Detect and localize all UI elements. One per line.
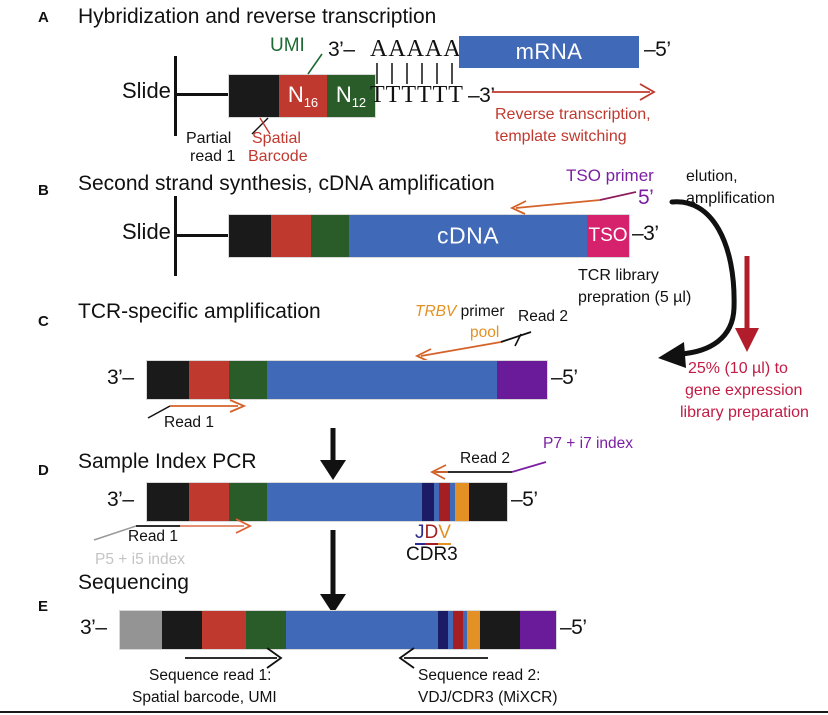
segment-j-e (438, 611, 448, 649)
figure-container: A Hybridization and reverse transcriptio… (0, 0, 828, 715)
panel-title-a: Hybridization and reverse transcription (78, 5, 436, 29)
v-gene-label: V (438, 522, 451, 545)
panel-title-d: Sample Index PCR (78, 450, 257, 474)
segment-spatial-barcode-b (271, 215, 311, 257)
n16-label: N16 (279, 82, 327, 110)
read2-label-c: Read 2 (518, 308, 568, 326)
segment-spatial-barcode-e (202, 611, 246, 649)
segment-umi-a: N12 (327, 75, 375, 117)
segment-j-d (422, 483, 434, 521)
p5-i5-index-label: P5 + i5 index (95, 551, 185, 569)
partial-read1-label-line1: Partial (186, 130, 231, 148)
trbv-primer-arrow-c (405, 330, 555, 362)
partial-read1-label-line2: read 1 (190, 148, 235, 166)
spatial-barcode-label-line1: Spatial (252, 130, 301, 148)
panel-title-c: TCR-specific amplification (78, 300, 321, 324)
segment-p5-i5-e (120, 611, 162, 649)
d-gene-label: D (425, 522, 439, 545)
read1-label-d: Read 1 (128, 528, 178, 546)
cdr3-label: CDR3 (406, 544, 458, 566)
tso-primer-label: TSO primer (566, 166, 654, 186)
sequence-read1-label-line2: Spatial barcode, UMI (132, 689, 277, 707)
segment-umi-b (311, 215, 349, 257)
cdna-label: cDNA (349, 223, 587, 250)
panel-title-b: Second strand synthesis, cDNA amplificat… (78, 172, 495, 196)
segment-d-d (439, 483, 450, 521)
trbv-primer-pool-label: TRBV primer (415, 303, 505, 321)
segment-cdna-c (267, 361, 497, 399)
segment-partial-read1-e (162, 611, 202, 649)
segment-spatial-barcode-a: N16 (279, 75, 327, 117)
segment-d-e (453, 611, 463, 649)
five-prime-right-c: –5’ (551, 366, 578, 390)
slide-label-a: Slide (122, 78, 171, 104)
p7-i7-index-label: P7 + i7 index (543, 435, 633, 453)
five-prime-right-d: –5’ (511, 488, 538, 512)
tcr-library-label-line1: TCR library (578, 267, 659, 285)
construct-e (119, 610, 557, 650)
mrna-label: mRNA (459, 39, 639, 65)
panel-title-e: Sequencing (78, 571, 189, 595)
segment-partial-read1-b (229, 215, 271, 257)
five-prime-right-a: –5’ (644, 38, 671, 62)
three-prime-top-a: 3’– (328, 38, 355, 62)
segment-tso-purple-c (497, 361, 547, 399)
tso-primer-arrow (500, 190, 650, 216)
segment-tso-b: TSO (587, 215, 629, 257)
segment-spatial-barcode-c (189, 361, 229, 399)
elution-label-line1: elution, (686, 168, 738, 186)
mrna-bar: mRNA (459, 36, 639, 68)
segment-v-d (455, 483, 469, 521)
panel-letter-c: C (38, 313, 49, 330)
three-prime-left-d: 3’– (107, 488, 134, 512)
panel-letter-a: A (38, 9, 49, 26)
gene-expr-label-line2: gene expression (685, 382, 802, 400)
n12-label: N12 (327, 82, 375, 110)
step-arrow-d-to-e (315, 530, 351, 620)
construct-c (146, 360, 548, 400)
reverse-transcription-label-line1: Reverse transcription, (495, 106, 651, 124)
cdna-construct-b: cDNA TSO (228, 214, 630, 258)
gene-expr-label-line3: library preparation (680, 404, 809, 422)
segment-tso-purple-e (520, 611, 556, 649)
slide-stem-b (174, 234, 230, 237)
reverse-transcription-label-line2: template switching (495, 128, 627, 146)
segment-p7-index-e (480, 611, 520, 649)
panel-letter-b: B (38, 182, 49, 199)
segment-cdna-b: cDNA (349, 215, 587, 257)
sequence-read1-label-line1: Sequence read 1: (149, 667, 271, 685)
segment-umi-c (229, 361, 267, 399)
sequence-read2-label-line2: VDJ/CDR3 (MiXCR) (418, 689, 558, 707)
read1-label-c: Read 1 (164, 414, 214, 432)
bottom-divider (0, 711, 828, 713)
slide-stem-a (174, 93, 230, 96)
three-prime-bottom-a: –3’ (468, 84, 495, 108)
jdv-label: JDV (415, 522, 451, 544)
tso-label: TSO (587, 225, 629, 247)
oligo-construct-a: N16 N12 (228, 74, 376, 118)
panel-letter-d: D (38, 462, 49, 479)
panel-letter-e: E (38, 598, 49, 615)
segment-p7-index-d (469, 483, 507, 521)
segment-cdna-e (286, 611, 438, 649)
slide-label-b: Slide (122, 219, 171, 245)
segment-partial-read1-c (147, 361, 189, 399)
step-arrow-c-to-d (315, 428, 351, 484)
slide-surface-line-a (174, 56, 177, 136)
sequence-read2-label-line1: Sequence read 2: (418, 667, 540, 685)
gene-expr-label-line1: 25% (10 µl) to (688, 360, 788, 378)
three-prime-left-c: 3’– (107, 366, 134, 390)
spatial-barcode-label-line2: Barcode (248, 148, 308, 166)
five-prime-right-e: –5’ (560, 616, 587, 640)
three-prime-left-e: 3’– (80, 616, 107, 640)
poly-t-sequence: TTTTTT (370, 82, 464, 109)
j-gene-label: J (415, 522, 425, 545)
tcr-library-label-line2: prepration (5 µl) (578, 289, 691, 307)
reverse-transcription-arrow (492, 83, 662, 103)
segment-umi-e (246, 611, 286, 649)
segment-cdna-d (267, 483, 422, 521)
segment-partial-read1-a (229, 75, 279, 117)
read1-arrow-d (92, 514, 272, 546)
segment-v-e (467, 611, 480, 649)
gene-expression-red-arrow (730, 256, 764, 356)
